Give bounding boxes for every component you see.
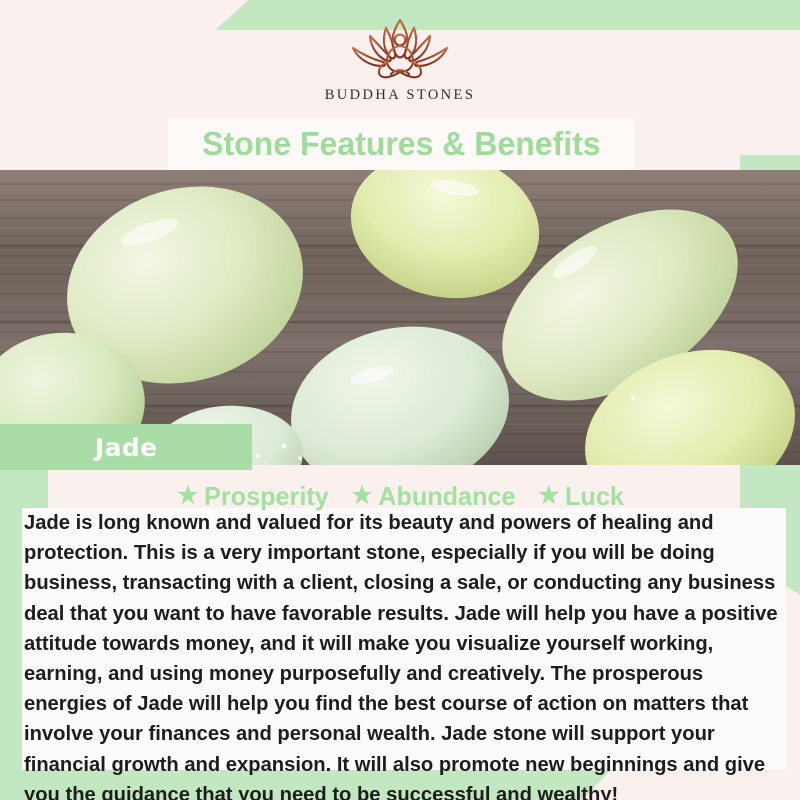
brand-name: BUDDHA STONES (325, 87, 476, 104)
lotus-meditation-icon (325, 14, 475, 86)
page-title: Stone Features & Benefits (202, 125, 600, 163)
stone-name: Jade (95, 433, 157, 462)
title-banner: Stone Features & Benefits (168, 118, 634, 170)
star-icon: ★ (538, 484, 559, 508)
keyword-label: Abundance (379, 481, 516, 512)
brand-header: BUDDHA STONES (0, 14, 800, 119)
keyword-item: ★ Prosperity (178, 481, 329, 512)
stone-info-card: BUDDHA STONES Stone Features & Benefits (0, 0, 800, 800)
star-icon: ★ (352, 484, 373, 508)
keyword-label: Luck (565, 481, 624, 512)
star-icon: ★ (178, 484, 199, 508)
stone-photo (0, 170, 800, 465)
keyword-label: Prosperity (204, 481, 329, 512)
keyword-list: ★ Prosperity ★ Abundance ★ Luck (0, 479, 800, 513)
keyword-item: ★ Luck (538, 481, 624, 512)
description-panel: Jade is long known and valued for its be… (22, 508, 786, 770)
stone-name-band: Jade (0, 424, 252, 470)
description-text: Jade is long known and valued for its be… (22, 508, 782, 800)
keyword-item: ★ Abundance (352, 481, 516, 512)
